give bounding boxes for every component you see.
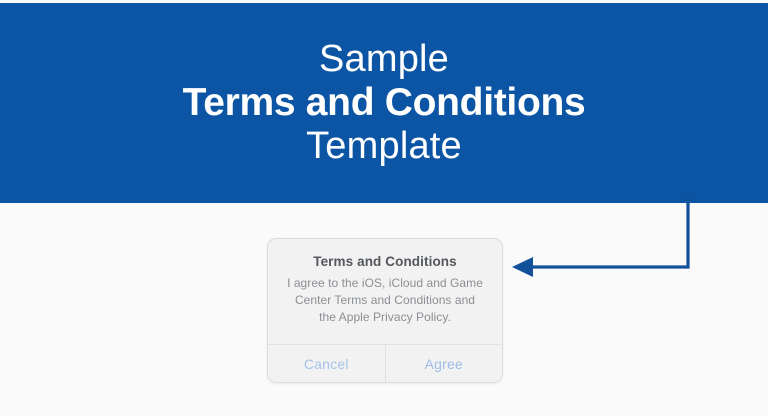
dialog-title: Terms and Conditions (280, 254, 490, 269)
header-banner: Sample Terms and Conditions Template (0, 3, 768, 203)
dialog-actions: Cancel Agree (268, 344, 502, 382)
page-canvas: Sample Terms and Conditions Template Ter… (0, 0, 768, 416)
banner-title-line-3: Template (306, 126, 462, 167)
banner-title-line-2: Terms and Conditions (183, 82, 586, 124)
dialog-message: I agree to the iOS, iCloud and Game Cent… (280, 275, 490, 326)
header-banner-text-block: Sample Terms and Conditions Template (0, 3, 768, 203)
agree-button[interactable]: Agree (386, 345, 503, 382)
cancel-button[interactable]: Cancel (268, 345, 385, 382)
terms-dialog: Terms and Conditions I agree to the iOS,… (267, 238, 503, 383)
arrow-left-elbow-icon (495, 196, 705, 286)
dialog-content: Terms and Conditions I agree to the iOS,… (268, 239, 502, 326)
banner-title-line-1: Sample (319, 39, 449, 80)
